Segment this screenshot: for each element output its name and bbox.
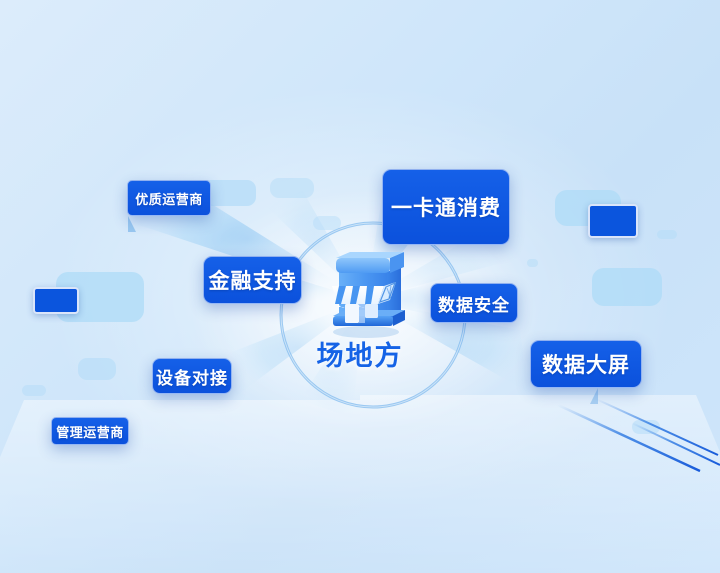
- card-数据安全[interactable]: 数据安全: [430, 283, 518, 323]
- diagonal-accent-lines: [550, 393, 720, 503]
- deco-block-8: [657, 230, 677, 239]
- card-label: 金融支持: [209, 265, 297, 295]
- card-label: 一卡通消费: [391, 192, 501, 222]
- card-一卡通消费[interactable]: 一卡通消费: [382, 169, 510, 245]
- storefront-icon: [312, 246, 418, 338]
- card-优质运营商[interactable]: 优质运营商: [127, 180, 211, 216]
- card-label: 优质运营商: [135, 189, 203, 208]
- deco-block-11: [632, 420, 660, 434]
- deco-block-9: [527, 259, 538, 267]
- deco-block-6: [22, 385, 46, 396]
- deco-block-2: [270, 178, 314, 198]
- center-label: 场地方: [0, 334, 720, 373]
- card-label: 数据安全: [438, 291, 510, 316]
- deco-block-10: [592, 268, 662, 306]
- deco-block-accent-left: [33, 287, 79, 314]
- card-金融支持[interactable]: 金融支持: [203, 256, 302, 304]
- deco-block-accent-right: [588, 204, 638, 238]
- deco-block-3: [313, 216, 341, 230]
- background-wedge-right: [360, 395, 720, 573]
- card-管理运营商[interactable]: 管理运营商: [51, 417, 129, 445]
- card-label: 管理运营商: [56, 422, 124, 441]
- infographic-canvas: 优质运营商 金融支持 一卡通消费 数据安全 数据大屏 设备对接 管理运营商: [0, 0, 720, 573]
